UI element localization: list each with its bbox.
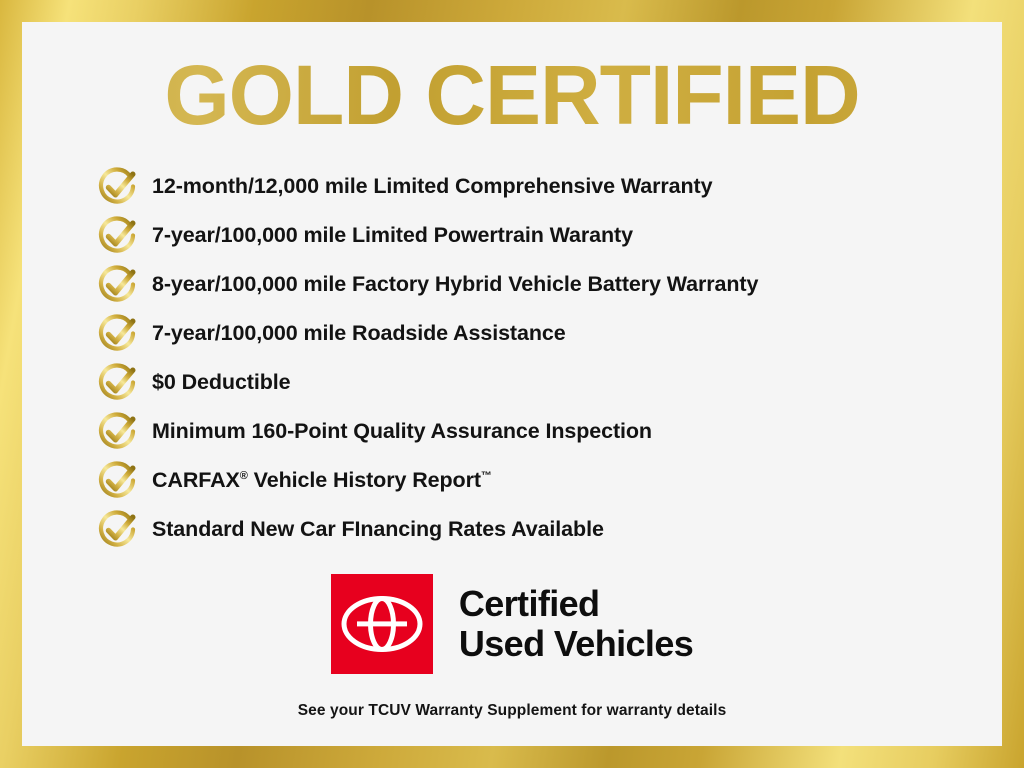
carfax-report-label: Vehicle History Report bbox=[248, 468, 481, 492]
gold-check-circle-icon bbox=[96, 411, 140, 453]
registered-mark: ® bbox=[240, 470, 248, 482]
gold-certified-poster: GOLD CERTIFIED 12-month/12,000 mile Li bbox=[0, 0, 1024, 768]
list-item-label: 7-year/100,000 mile Limited Powertrain W… bbox=[152, 223, 633, 248]
carfax-wordmark: CARFAX bbox=[152, 468, 240, 492]
list-item-label: CARFAX® Vehicle History Report™ bbox=[152, 468, 492, 493]
gold-check-circle-icon bbox=[96, 460, 140, 502]
list-item: Minimum 160-Point Quality Assurance Insp… bbox=[96, 407, 986, 456]
logo-wordmark: Certified Used Vehicles bbox=[459, 584, 693, 664]
gold-check-circle-icon bbox=[96, 166, 140, 208]
list-item: 12-month/12,000 mile Limited Comprehensi… bbox=[96, 162, 986, 211]
list-item: Standard New Car FInancing Rates Availab… bbox=[96, 505, 986, 554]
warranty-disclaimer: See your TCUV Warranty Supplement for wa… bbox=[22, 702, 1002, 720]
poster-panel: GOLD CERTIFIED 12-month/12,000 mile Li bbox=[22, 22, 1002, 746]
logo-line-1: Certified bbox=[459, 584, 693, 624]
list-item: $0 Deductible bbox=[96, 358, 986, 407]
list-item-label: 12-month/12,000 mile Limited Comprehensi… bbox=[152, 174, 712, 199]
list-item: 8-year/100,000 mile Factory Hybrid Vehic… bbox=[96, 260, 986, 309]
list-item-label: 7-year/100,000 mile Roadside Assistance bbox=[152, 321, 566, 346]
list-item-label: 8-year/100,000 mile Factory Hybrid Vehic… bbox=[152, 272, 758, 297]
page-title: GOLD CERTIFIED bbox=[22, 50, 1002, 140]
toyota-certified-used-vehicles-logo: Certified Used Vehicles bbox=[22, 574, 1002, 674]
toyota-emblem-icon bbox=[340, 593, 424, 655]
gold-check-circle-icon bbox=[96, 313, 140, 355]
feature-list: 12-month/12,000 mile Limited Comprehensi… bbox=[96, 162, 986, 554]
gold-check-circle-icon bbox=[96, 215, 140, 257]
list-item-label: $0 Deductible bbox=[152, 370, 291, 395]
list-item: 7-year/100,000 mile Limited Powertrain W… bbox=[96, 211, 986, 260]
gold-check-circle-icon bbox=[96, 509, 140, 551]
list-item-label: Standard New Car FInancing Rates Availab… bbox=[152, 517, 604, 542]
list-item-label: Minimum 160-Point Quality Assurance Insp… bbox=[152, 419, 652, 444]
trademark-mark: ™ bbox=[481, 470, 492, 482]
toyota-logo-tile bbox=[331, 574, 433, 674]
logo-line-2: Used Vehicles bbox=[459, 624, 693, 664]
list-item: 7-year/100,000 mile Roadside Assistance bbox=[96, 309, 986, 358]
gold-check-circle-icon bbox=[96, 362, 140, 404]
gold-check-circle-icon bbox=[96, 264, 140, 306]
list-item: CARFAX® Vehicle History Report™ bbox=[96, 456, 986, 505]
